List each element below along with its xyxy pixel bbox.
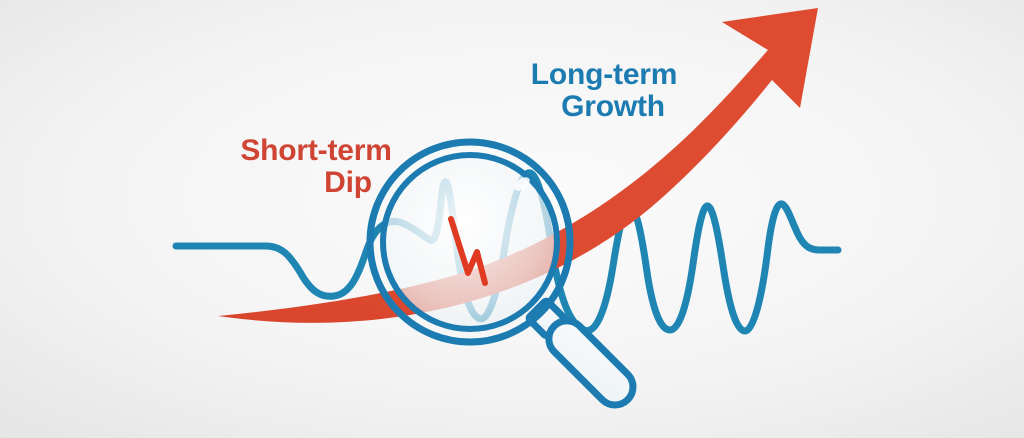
short-term-dip-label-line1: Short-term <box>240 134 391 167</box>
long-term-growth-label-line2: Growth <box>561 90 665 123</box>
illustration-canvas: Short-term Dip Long-term Growth <box>0 0 1024 438</box>
growth-illustration-svg: Short-term Dip Long-term Growth <box>0 0 1024 438</box>
long-term-growth-label-line1: Long-term <box>531 58 678 91</box>
magnifying-glass-icon <box>370 142 570 342</box>
short-term-dip-label-line2: Dip <box>324 166 372 199</box>
